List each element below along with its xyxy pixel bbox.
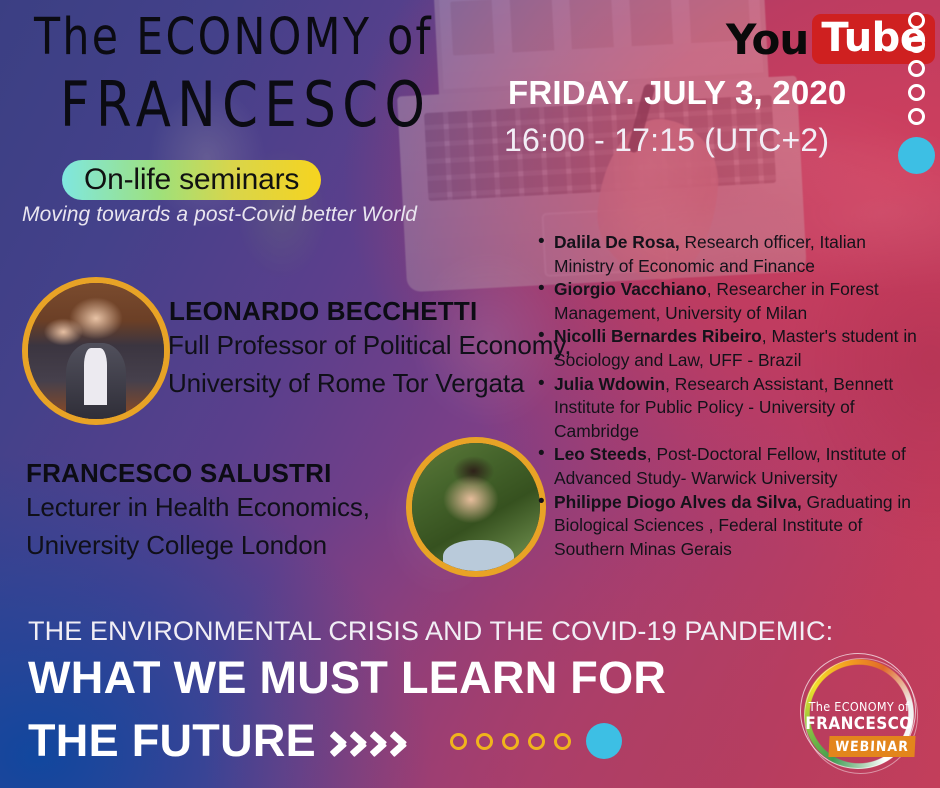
panelist-name: Julia Wdowin — [554, 374, 665, 394]
ring-dot-icon — [528, 733, 545, 750]
speaker-2-role-line2: University College London — [26, 530, 327, 561]
footer-headline-line1: WHAT WE MUST LEARN FOR — [28, 652, 666, 704]
brand-title-line2: FRANCESCO — [60, 68, 431, 141]
youtube-logo-you-text: You — [726, 15, 808, 64]
tagline: Moving towards a post-Covid better World — [22, 203, 417, 227]
panelist-list: Dalila De Rosa, Research officer, Italia… — [538, 231, 928, 561]
brand-title-line1: The ECONOMY of — [34, 8, 433, 67]
panelist-name: Giorgio Vacchiano — [554, 279, 707, 299]
chevron-right-icon — [350, 721, 369, 761]
series-badge: On-life seminars — [62, 160, 321, 200]
avatar — [22, 277, 170, 425]
speaker-2-name: FRANCESCO SALUSTRI — [26, 458, 332, 489]
accent-dot-icon — [586, 723, 622, 759]
ring-dot-icon — [476, 733, 493, 750]
panelist-item: Dalila De Rosa, Research officer, Italia… — [538, 231, 928, 278]
ring-dot-icon — [908, 36, 925, 53]
logo-badge-banner: WEBINAR — [828, 736, 915, 757]
ring-dot-icon — [554, 733, 571, 750]
panelist-item: Leo Steeds, Post-Doctoral Fellow, Instit… — [538, 443, 928, 490]
footer-subtitle: THE ENVIRONMENTAL CRISIS AND THE COVID-1… — [28, 616, 833, 647]
panelist-item: Giorgio Vacchiano, Researcher in Forest … — [538, 278, 928, 325]
webinar-logo-badge: The ECONOMY of FRANCESCO WEBINAR — [795, 650, 923, 778]
footer-dot-row — [450, 723, 622, 759]
chevron-right-icon — [370, 721, 389, 761]
ring-dot-icon — [908, 108, 925, 125]
ring-dot-icon — [908, 60, 925, 77]
speaker-1-role-line1: Full Professor of Political Economy, — [168, 330, 571, 361]
logo-badge-line2: FRANCESCO — [795, 714, 923, 734]
logo-badge-banner-label: WEBINAR — [828, 736, 915, 757]
panelist-item: Julia Wdowin, Research Assistant, Bennet… — [538, 373, 928, 444]
ring-dot-icon — [450, 733, 467, 750]
panelist-name: Philippe Diogo Alves da Silva, — [554, 492, 802, 512]
chevron-group — [330, 721, 409, 761]
panelist-name: Leo Steeds — [554, 444, 647, 464]
event-date: FRIDAY. JULY 3, 2020 — [508, 74, 868, 112]
event-time: 16:00 - 17:15 (UTC+2) — [504, 122, 884, 159]
footer-headline-row: THE FUTURE — [28, 715, 409, 767]
chevron-right-icon — [330, 721, 349, 761]
avatar-photo-francesco — [412, 443, 540, 571]
avatar-photo-leonardo — [28, 283, 164, 419]
speaker-1-name: LEONARDO BECCHETTI — [169, 296, 477, 327]
webinar-poster: The ECONOMY of FRANCESCO On-life seminar… — [0, 0, 940, 788]
decorative-dot-rail — [898, 12, 935, 174]
footer-headline-line2: THE FUTURE — [28, 715, 316, 767]
ring-dot-icon — [908, 12, 925, 29]
accent-dot-icon — [898, 137, 935, 174]
panelist-item: Nicolli Bernardes Ribeiro, Master's stud… — [538, 325, 928, 372]
chevron-right-icon — [390, 721, 409, 761]
panelist-item: Philippe Diogo Alves da Silva, Graduatin… — [538, 491, 928, 562]
series-badge-label: On-life seminars — [84, 163, 299, 197]
speaker-1-role-line2: University of Rome Tor Vergata — [168, 368, 524, 399]
panelist-name: Nicolli Bernardes Ribeiro — [554, 326, 762, 346]
speaker-2-role-line1: Lecturer in Health Economics, — [26, 492, 370, 523]
ring-dot-icon — [502, 733, 519, 750]
ring-dot-icon — [908, 84, 925, 101]
panelist-name: Dalila De Rosa, — [554, 232, 680, 252]
avatar — [406, 437, 546, 577]
logo-badge-line1: The ECONOMY of — [795, 699, 923, 714]
